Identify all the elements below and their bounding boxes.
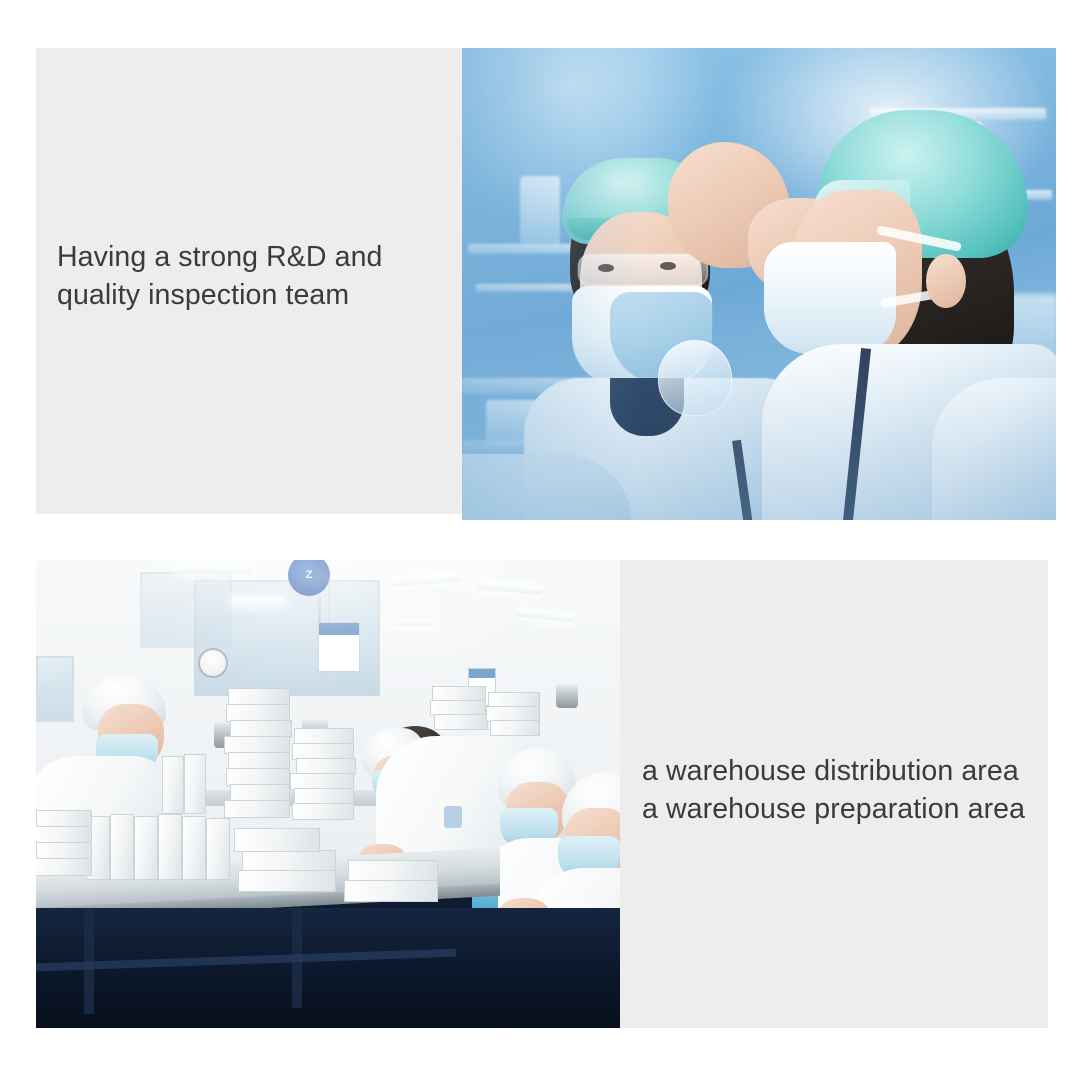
lab-scene [462, 48, 1056, 520]
photo-warehouse-packing: Z [36, 560, 620, 1028]
caption-text-top: Having a strong R&D and quality inspecti… [57, 238, 457, 314]
caption-text-bottom: a warehouse distribution area a warehous… [642, 752, 1052, 828]
warehouse-scene: Z [36, 560, 620, 1028]
photo-lab-inspection [462, 48, 1056, 520]
caption-panel-bottom: a warehouse distribution area a warehous… [620, 560, 1048, 1028]
caption-line: quality inspection team [57, 276, 457, 314]
caption-line: Having a strong R&D and [57, 238, 457, 276]
section-warehouse-areas: Z [36, 560, 1048, 1028]
caption-panel-top: Having a strong R&D and quality inspecti… [36, 48, 462, 514]
lab-light-haze [462, 48, 1056, 520]
caption-line: a warehouse preparation area [642, 790, 1052, 828]
page-root: Having a strong R&D and quality inspecti… [0, 0, 1080, 1080]
section-rd-quality-inspection: Having a strong R&D and quality inspecti… [36, 48, 1056, 520]
caption-line: a warehouse distribution area [642, 752, 1052, 790]
warehouse-light-glare [36, 560, 620, 1028]
